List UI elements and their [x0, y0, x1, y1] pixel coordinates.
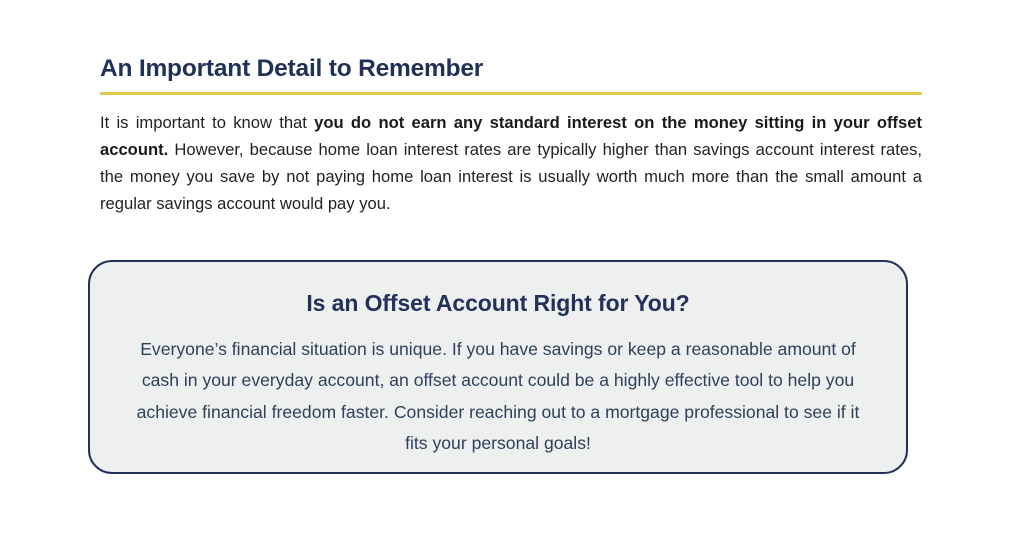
callout-body-text: Everyone’s financial situation is unique… — [133, 318, 863, 460]
paragraph-lead-text: It is important to know that — [100, 113, 314, 132]
callout-title: Is an Offset Account Right for You? — [306, 290, 689, 318]
article-content: An Important Detail to Remember It is im… — [100, 55, 922, 217]
callout-box: Is an Offset Account Right for You? Ever… — [88, 260, 908, 474]
document-page: An Important Detail to Remember It is im… — [0, 0, 1024, 552]
paragraph-rest-text: However, because home loan interest rate… — [100, 140, 922, 213]
body-paragraph: It is important to know that you do not … — [100, 95, 922, 217]
section-heading: An Important Detail to Remember — [100, 55, 922, 82]
